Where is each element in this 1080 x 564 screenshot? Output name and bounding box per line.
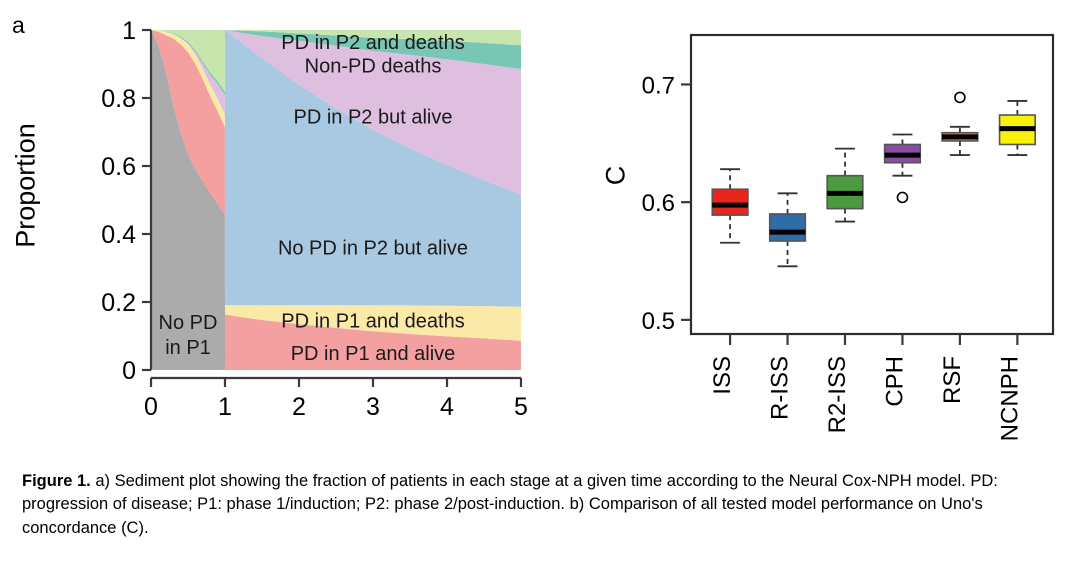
panel-b-axes: 0.50.60.7ISSR-ISSR2-ISSCPHRSFNCNPH bbox=[642, 72, 1024, 441]
sediment-annotation-pd-in-p1-and-deaths: PD in P1 and deaths bbox=[281, 311, 464, 333]
figure-caption: Figure 1. a) Sediment plot showing the f… bbox=[22, 470, 1058, 540]
panel-a-x-tick-label: 1 bbox=[218, 393, 232, 421]
boxplot-outlier bbox=[955, 92, 965, 102]
figure-caption-text: a) Sediment plot showing the fraction of… bbox=[22, 472, 998, 537]
panel-b-frame bbox=[691, 35, 1053, 334]
boxplot-box-r-iss[interactable] bbox=[770, 193, 806, 266]
panel-b-y-tick-label: 0.7 bbox=[642, 72, 675, 99]
sediment-annotation-pd-in-p2-but-alive: PD in P2 but alive bbox=[294, 107, 453, 129]
panel-b-y-tick-label: 0.6 bbox=[642, 190, 675, 217]
panel-a-y-tick-label: 0.2 bbox=[101, 289, 136, 317]
sediment-annotation-no-pd-in-p2-but-alive: No PD in P2 but alive bbox=[278, 238, 468, 260]
panel-a-y-tick-label: 0.4 bbox=[101, 221, 136, 249]
panel-a-sediment-plot: a Proportion 00.20.40.60.81012345No PDin… bbox=[0, 0, 600, 450]
panel-b-boxplot: b 0.50.60.7ISSR-ISSR2-ISSCPHRSFNCNPH bbox=[600, 0, 1080, 450]
panel-b-category-label-rsf: RSF bbox=[939, 356, 966, 404]
boxplot-box-iss[interactable] bbox=[712, 169, 748, 243]
boxplot-outlier bbox=[897, 192, 907, 202]
figure-container: a Proportion 00.20.40.60.81012345No PDin… bbox=[0, 0, 1080, 564]
boxplot-box-r2-iss[interactable] bbox=[827, 149, 863, 222]
boxplot-box-cph[interactable] bbox=[885, 134, 921, 202]
panel-b-category-label-iss: ISS bbox=[709, 356, 736, 395]
panel-b-category-label-r2-iss: R2-ISS bbox=[824, 356, 851, 433]
panel-a-y-tick-label: 0.8 bbox=[101, 85, 136, 113]
boxplot-boxes bbox=[712, 92, 1035, 266]
panel-a-svg: 00.20.40.60.81012345No PDin P1PD in P1 a… bbox=[0, 0, 600, 450]
panel-b-y-axis-title: C bbox=[601, 146, 632, 206]
panel-b-svg: 0.50.60.7ISSR-ISSR2-ISSCPHRSFNCNPH bbox=[600, 0, 1080, 450]
panel-b-category-label-r-iss: R-ISS bbox=[767, 356, 794, 420]
panel-a-x-tick-label: 0 bbox=[144, 393, 158, 421]
panel-a-x-tick-label: 3 bbox=[366, 393, 380, 421]
panel-b-category-label-cph: CPH bbox=[881, 356, 908, 407]
panel-a-x-tick-label: 2 bbox=[292, 393, 306, 421]
panel-a-y-tick-label: 1 bbox=[122, 17, 136, 45]
panel-a-x-tick-label: 5 bbox=[514, 393, 528, 421]
sediment-annotation-pd-in-p2-and-deaths: PD in P2 and deaths bbox=[281, 32, 464, 54]
sediment-annotation-pd-in-p1-and-alive: PD in P1 and alive bbox=[291, 343, 456, 365]
boxplot-box-rsf[interactable] bbox=[942, 92, 978, 155]
panel-a-x-tick-label: 4 bbox=[440, 393, 454, 421]
panel-a-y-tick-label: 0.6 bbox=[101, 153, 136, 181]
boxplot-box-ncnph[interactable] bbox=[1000, 101, 1036, 155]
figure-caption-label: Figure 1. bbox=[22, 472, 91, 490]
panel-b-category-label-ncnph: NCNPH bbox=[996, 356, 1023, 441]
panel-a-y-tick-label: 0 bbox=[122, 357, 136, 385]
panel-b-y-tick-label: 0.5 bbox=[642, 308, 675, 335]
sediment-annotation-non-pd-deaths: Non-PD deaths bbox=[305, 56, 442, 78]
